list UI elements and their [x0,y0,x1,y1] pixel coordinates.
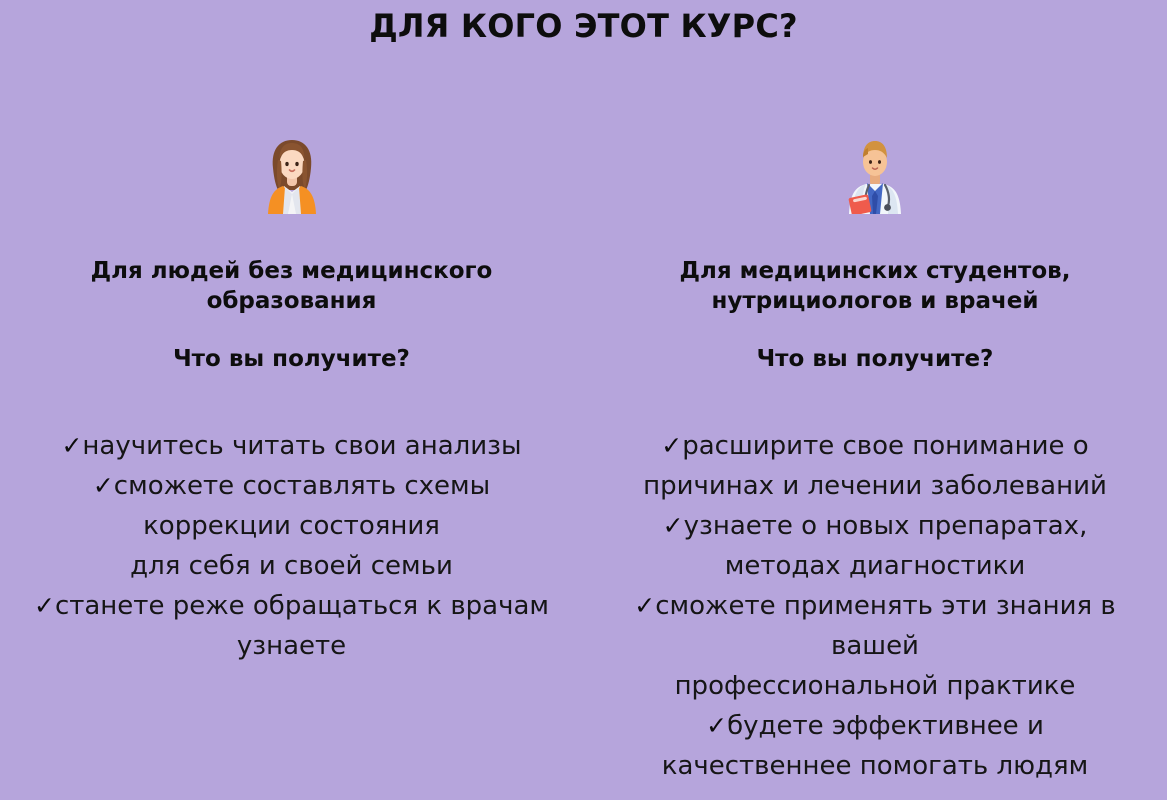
benefit-text: вашей [831,631,919,661]
benefit-line: коррекции состояния [34,506,549,546]
check-icon: ✓ [93,471,114,500]
benefit-text: качественнее помогать людям [662,751,1089,781]
benefit-text: методах диагностики [725,551,1026,581]
benefit-line: причинах и лечении заболеваний [634,466,1115,506]
benefit-text: сможете применять эти знания в [655,591,1115,621]
benefit-line: методах диагностики [634,546,1115,586]
benefit-line: ✓научитесь читать свои анализы [34,426,549,466]
benefit-text: научитесь читать свои анализы [82,431,521,461]
benefit-text: сможете составлять схемы [114,471,490,501]
benefit-text: будете эффективнее и [727,711,1044,741]
benefit-line: узнаете [34,626,549,666]
woman-office-worker-icon [261,134,323,214]
check-icon: ✓ [663,511,684,540]
benefit-line: профессиональной практике [634,666,1115,706]
benefit-line: ✓сможете составлять схемы [34,466,549,506]
benefit-list-non-medical: ✓научитесь читать свои анализы ✓сможете … [34,426,549,666]
column-subheading-medical: Что вы получите? [757,344,994,374]
benefit-line: ✓сможете применять эти знания в [634,586,1115,626]
check-icon: ✓ [661,431,682,460]
page-title: ДЛЯ КОГО ЭТОТ КУРС? [0,6,1167,46]
check-icon: ✓ [706,711,727,740]
benefit-line: для себя и своей семьи [34,546,549,586]
check-icon: ✓ [34,591,55,620]
benefit-text: расширите свое понимание о [682,431,1088,461]
benefit-text: станете реже обращаться к врачам [55,591,549,621]
benefit-line: качественнее помогать людям [634,746,1115,786]
man-health-worker-icon [844,134,906,214]
benefit-line: ✓расширите свое понимание о [634,426,1115,466]
benefit-line: вашей [634,626,1115,666]
slide-root: ДЛЯ КОГО ЭТОТ КУРС? [0,0,1167,800]
check-icon: ✓ [634,591,655,620]
benefit-text: узнаете [237,631,346,661]
benefit-text: профессиональной практике [675,671,1076,701]
column-heading-non-medical: Для людей без медицинского образования [77,256,507,316]
audience-column-non-medical: Для людей без медицинского образования Ч… [0,134,583,666]
column-heading-medical: Для медицинских студентов, нутрициологов… [660,256,1090,316]
check-icon: ✓ [61,431,82,460]
benefit-text: причинах и лечении заболеваний [643,471,1107,501]
audience-columns: Для людей без медицинского образования Ч… [0,134,1167,786]
benefit-text: для себя и своей семьи [130,551,453,581]
benefit-line: ✓будете эффективнее и [634,706,1115,746]
column-subheading-non-medical: Что вы получите? [173,344,410,374]
benefit-line: ✓станете реже обращаться к врачам [34,586,549,626]
benefit-text: узнаете о новых препаратах, [684,511,1088,541]
benefit-text: коррекции состояния [143,511,440,541]
audience-column-medical: Для медицинских студентов, нутрициологов… [583,134,1167,786]
benefit-line: ✓узнаете о новых препаратах, [634,506,1115,546]
benefit-list-medical: ✓расширите свое понимание о причинах и л… [634,426,1115,786]
